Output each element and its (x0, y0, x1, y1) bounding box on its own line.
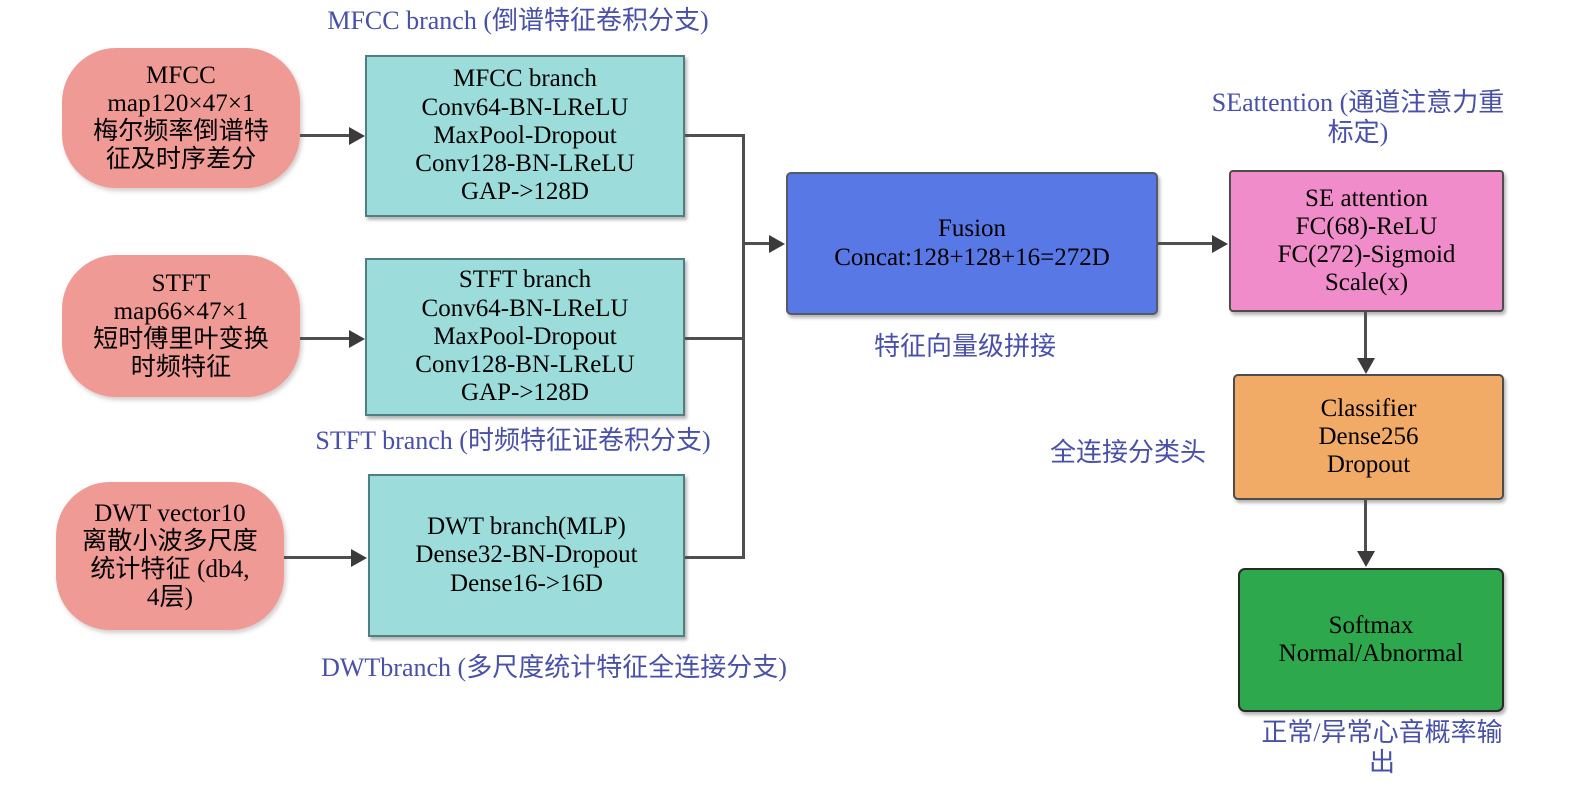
softmax-line-1: Softmax (1329, 612, 1414, 640)
dwt-input-line-4: 4层) (147, 584, 193, 612)
edge-mfcc-input-to-branch (300, 134, 350, 137)
edge-bus-to-fusion (742, 242, 770, 245)
mfcc-input-line-3: 梅尔频率倒谱特 (93, 118, 269, 146)
softmax-node[interactable]: Softmax Normal/Abnormal (1238, 568, 1504, 712)
se-line-2: FC(68)-ReLU (1296, 213, 1438, 241)
softmax-line-2: Normal/Abnormal (1279, 640, 1464, 668)
classifier-line-3: Dropout (1327, 451, 1410, 479)
classifier-line-2: Dense256 (1319, 423, 1419, 451)
stft-branch-node[interactable]: STFT branch Conv64-BN-LReLU MaxPool-Drop… (365, 258, 685, 416)
mfcc-input-line-1: MFCC (146, 62, 216, 90)
mfcc-branch-line-3: MaxPool-Dropout (433, 122, 616, 150)
classifier-node[interactable]: Classifier Dense256 Dropout (1233, 374, 1504, 500)
arrowhead-dwt-input-to-branch (351, 549, 367, 567)
diagram-canvas: MFCC branch (倒谱特征卷积分支) STFT branch (时频特征… (0, 0, 1583, 794)
edge-mfcc-branch-out (685, 134, 745, 137)
edge-stft-branch-out (685, 337, 745, 340)
arrowhead-classifier-to-softmax (1357, 551, 1375, 567)
caption-dwt-branch: DWTbranch (多尺度统计特征全连接分支) (300, 653, 808, 683)
stft-branch-line-5: GAP->128D (461, 379, 589, 407)
caption-se-attention: SEattention (通道注意力重 标定) (1183, 88, 1533, 148)
fusion-line-2: Concat:128+128+16=272D (834, 244, 1110, 272)
edge-fusion-bus-vertical (742, 134, 745, 559)
stft-branch-line-4: Conv128-BN-LReLU (415, 351, 634, 379)
mfcc-branch-line-1: MFCC branch (453, 65, 597, 93)
edge-classifier-to-softmax (1364, 500, 1367, 552)
stft-input-line-2: map66×47×1 (114, 298, 249, 326)
edge-se-to-classifier (1364, 312, 1367, 360)
stft-branch-line-1: STFT branch (459, 266, 591, 294)
arrowhead-fusion-to-se (1212, 235, 1228, 253)
mfcc-branch-line-4: Conv128-BN-LReLU (415, 150, 634, 178)
dwt-input-line-2: 离散小波多尺度 (82, 528, 258, 556)
mfcc-branch-line-5: GAP->128D (461, 178, 589, 206)
mfcc-input-line-2: map120×47×1 (107, 90, 254, 118)
stft-branch-line-2: Conv64-BN-LReLU (422, 295, 629, 323)
arrowhead-bus-to-fusion (769, 235, 785, 253)
caption-softmax: 正常/异常心音概率输 出 (1222, 718, 1542, 778)
se-line-1: SE attention (1305, 185, 1428, 213)
caption-mfcc-branch: MFCC branch (倒谱特征卷积分支) (283, 6, 753, 36)
arrowhead-se-to-classifier (1357, 358, 1375, 374)
fusion-node[interactable]: Fusion Concat:128+128+16=272D (786, 172, 1158, 315)
se-line-3: FC(272)-Sigmoid (1278, 241, 1456, 269)
caption-stft-branch: STFT branch (时频特征证卷积分支) (308, 426, 718, 456)
mfcc-branch-line-2: Conv64-BN-LReLU (422, 94, 629, 122)
caption-fusion: 特征向量级拼接 (815, 332, 1115, 362)
stft-input-line-1: STFT (152, 270, 211, 298)
mfcc-input-node[interactable]: MFCC map120×47×1 梅尔频率倒谱特 征及时序差分 (62, 48, 300, 188)
stft-input-line-4: 时频特征 (131, 354, 231, 382)
mfcc-branch-node[interactable]: MFCC branch Conv64-BN-LReLU MaxPool-Drop… (365, 55, 685, 217)
dwt-input-line-3: 统计特征 (db4, (90, 556, 249, 584)
dwt-input-node[interactable]: DWT vector10 离散小波多尺度 统计特征 (db4, 4层) (56, 482, 284, 630)
edge-dwt-branch-out (685, 556, 745, 559)
dwt-branch-node[interactable]: DWT branch(MLP) Dense32-BN-Dropout Dense… (368, 474, 685, 637)
stft-branch-line-3: MaxPool-Dropout (433, 323, 616, 351)
stft-input-node[interactable]: STFT map66×47×1 短时傅里叶变换 时频特征 (62, 255, 300, 397)
dwt-input-line-1: DWT vector10 (94, 500, 245, 528)
edge-fusion-to-se (1158, 242, 1213, 245)
se-line-4: Scale(x) (1325, 269, 1408, 297)
classifier-line-1: Classifier (1321, 395, 1417, 423)
stft-input-line-3: 短时傅里叶变换 (93, 326, 269, 354)
arrowhead-stft-input-to-branch (349, 330, 365, 348)
dwt-branch-line-1: DWT branch(MLP) (427, 513, 626, 541)
fusion-line-1: Fusion (938, 215, 1006, 243)
dwt-branch-line-3: Dense16->16D (450, 570, 603, 598)
dwt-branch-line-2: Dense32-BN-Dropout (415, 541, 637, 569)
arrowhead-mfcc-input-to-branch (349, 127, 365, 145)
edge-dwt-input-to-branch (284, 556, 352, 559)
se-attention-node[interactable]: SE attention FC(68)-ReLU FC(272)-Sigmoid… (1229, 170, 1504, 312)
caption-classifier: 全连接分类头 (1028, 438, 1228, 468)
mfcc-input-line-4: 征及时序差分 (106, 146, 257, 174)
edge-stft-input-to-branch (300, 337, 350, 340)
